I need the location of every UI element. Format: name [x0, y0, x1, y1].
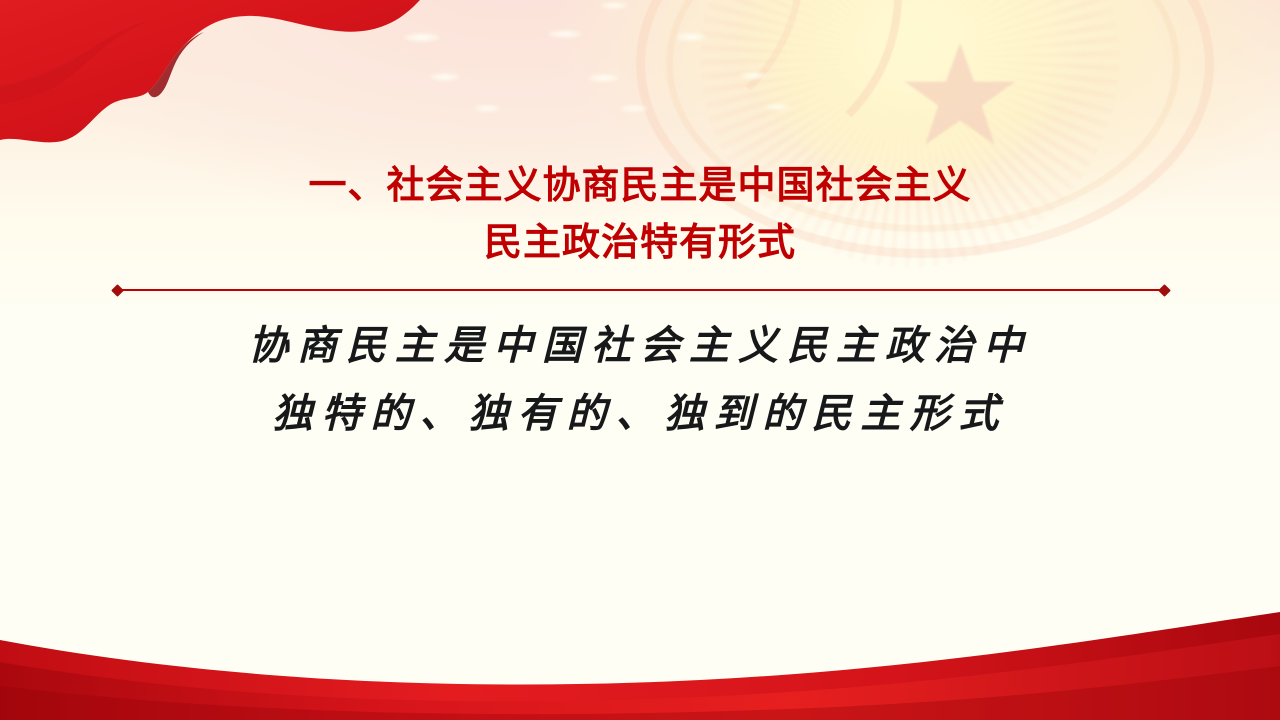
- title-divider: [113, 284, 1169, 296]
- divider-diamond-right-icon: [1158, 284, 1171, 297]
- slide-body-text: 协商民主是中国社会主义民主政治中 独特的、独有的、独到的民主形式: [0, 312, 1280, 448]
- slide-title: 一、社会主义协商民主是中国社会主义 民主政治特有形式: [0, 158, 1280, 272]
- title-line-2: 民主政治特有形式: [0, 215, 1280, 272]
- body-line-2: 独特的、独有的、独到的民主形式: [0, 380, 1280, 448]
- body-line-1: 协商民主是中国社会主义民主政治中: [0, 312, 1280, 380]
- divider-rule: [119, 289, 1163, 291]
- title-line-1: 一、社会主义协商民主是中国社会主义: [0, 158, 1280, 215]
- slide-canvas: 一、社会主义协商民主是中国社会主义 民主政治特有形式 协商民主是中国社会主义民主…: [0, 0, 1280, 720]
- bottom-wave-decoration: [0, 600, 1280, 720]
